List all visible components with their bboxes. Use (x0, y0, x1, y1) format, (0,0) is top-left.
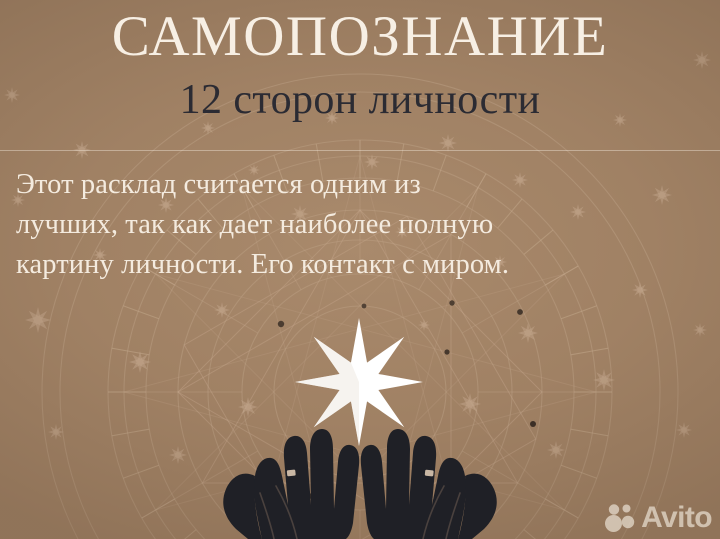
page-subtitle: 12 сторон личности (0, 79, 720, 121)
description-text: Этот расклад считается одним из лучших, … (16, 165, 708, 285)
avito-watermark-label: Avito (641, 503, 712, 533)
left-hand-detail (260, 486, 297, 539)
right-hand-ring-icon (425, 470, 434, 477)
right-hand-detail (423, 486, 460, 539)
left-hand-ring-icon (287, 470, 296, 477)
poster-canvas: САМОПОЗНАНИЕ 12 сторон личности Этот рас… (0, 0, 720, 539)
description-line-2: лучших, так как дает наиболее полную (16, 205, 708, 245)
eight-pointed-star-icon (295, 318, 423, 446)
right-hand-icon (361, 429, 497, 539)
avito-watermark: Avito (604, 503, 712, 533)
dot-field (278, 300, 536, 505)
description-line-3: картину личности. Его контакт с миром. (16, 245, 708, 285)
left-hand-icon (223, 429, 359, 539)
avito-logo-icon (604, 503, 637, 533)
header-divider (0, 150, 720, 151)
wheel-rings (42, 74, 678, 539)
description-line-1: Этот расклад считается одним из (16, 165, 708, 205)
page-title: САМОПОЗНАНИЕ (0, 8, 720, 65)
